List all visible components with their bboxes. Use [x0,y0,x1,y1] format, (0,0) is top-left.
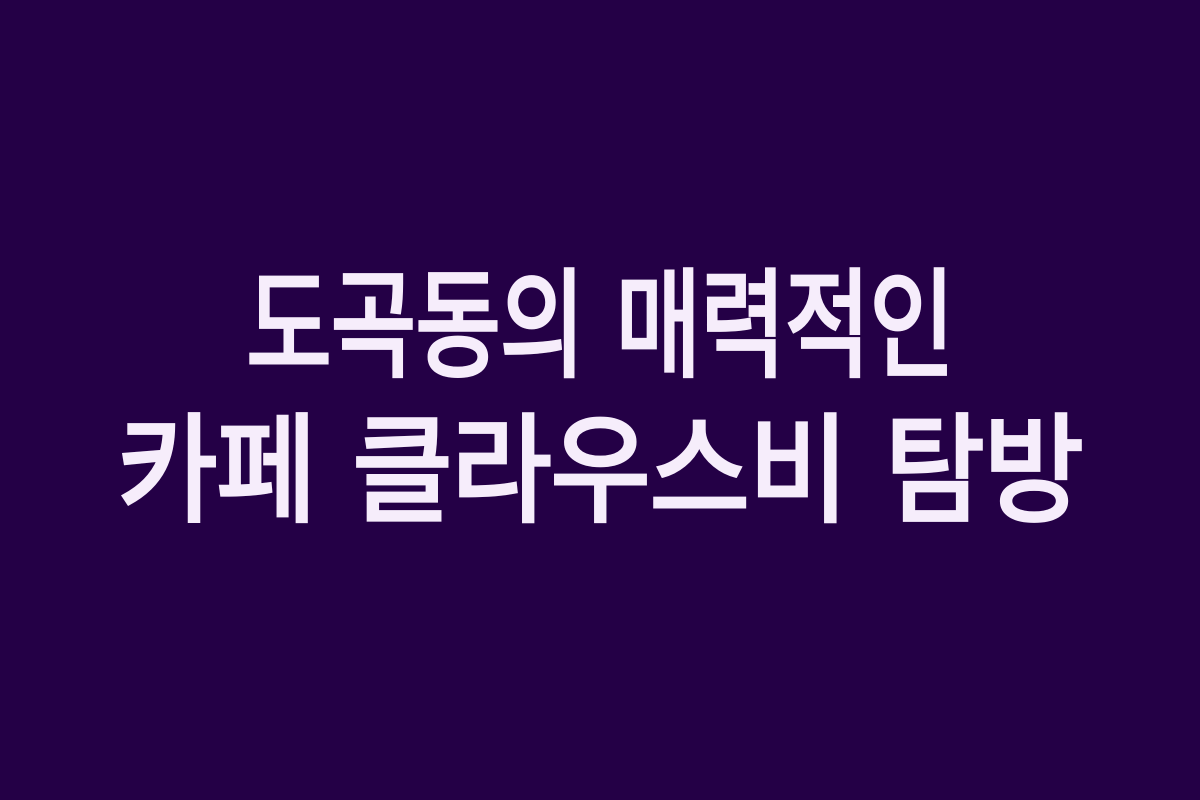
headline-block: 도곡동의 매력적인 카페 클라우스비 탐방 [0,254,1200,544]
headline-line-2: 카페 클라우스비 탐방 [45,399,1155,544]
banner-canvas: 도곡동의 매력적인 카페 클라우스비 탐방 [0,0,1200,800]
headline-line-1: 도곡동의 매력적인 [127,254,1074,399]
